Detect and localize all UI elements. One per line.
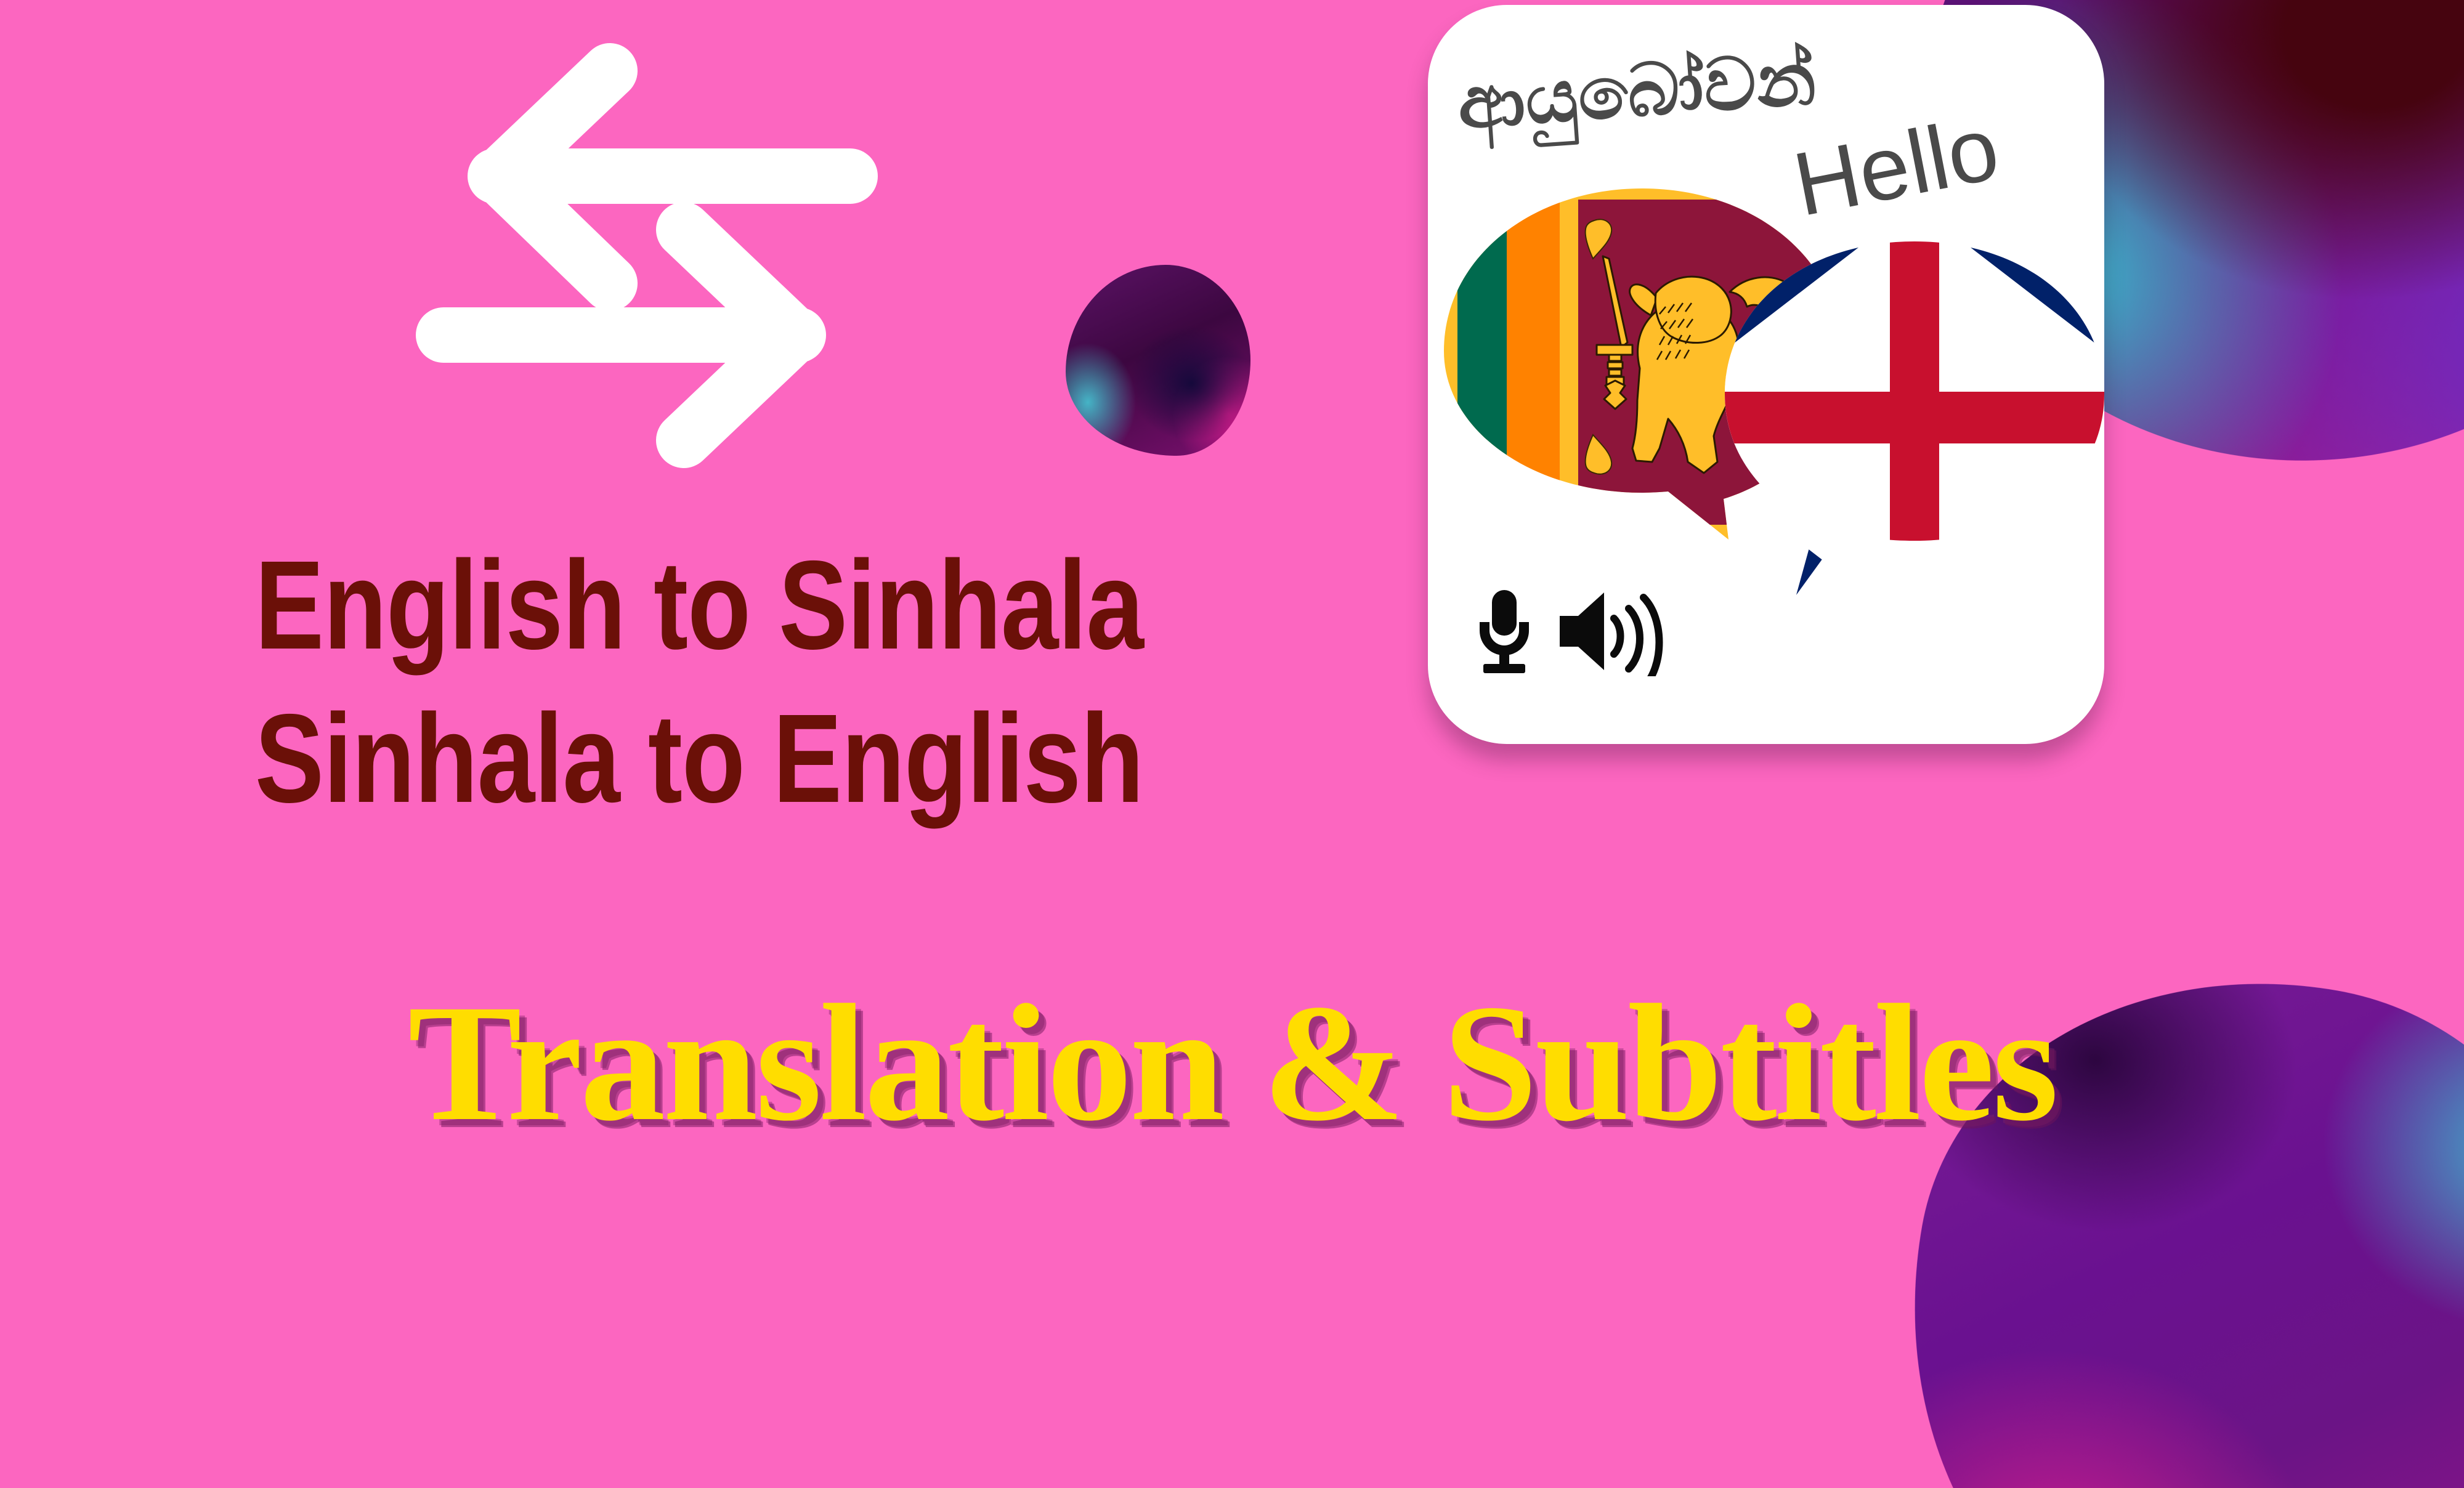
poster-canvas: English to Sinhala Sinhala to English Tr… <box>0 0 2464 1488</box>
microphone-icon <box>1480 590 1529 673</box>
center-small-blob <box>1066 265 1250 456</box>
subhead-text: Translation & Subtitles <box>0 979 2464 1147</box>
united-kingdom-flag-bubble <box>1717 233 2104 602</box>
app-icon-card: ආයුබෝවන් Hello <box>1428 5 2104 744</box>
sinhala-greeting-text: ආයුබෝවන් <box>1455 36 1819 147</box>
speaker-icon <box>1560 592 1660 676</box>
headline-line-2: Sinhala to English <box>126 695 1272 822</box>
translate-arrows-icon <box>407 43 887 468</box>
headline-block: English to Sinhala Sinhala to English <box>0 542 1398 822</box>
headline-line-1: English to Sinhala <box>126 542 1272 668</box>
audio-icons-group <box>1467 584 1664 676</box>
